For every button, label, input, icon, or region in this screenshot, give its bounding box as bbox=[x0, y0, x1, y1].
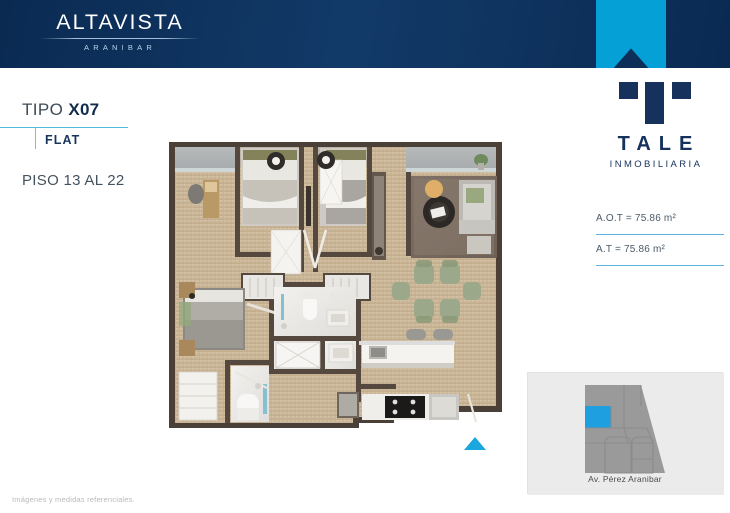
unit-type-heading: TIPO X07 bbox=[22, 100, 99, 120]
header-band: ALTAVISTA ARANIBAR bbox=[0, 0, 730, 68]
fp-laundry-closet bbox=[179, 372, 217, 420]
unit-layout-label: FLAT bbox=[45, 133, 80, 147]
keyplan-street-label: Av. Pérez Aranibar bbox=[528, 474, 722, 484]
brand-divider bbox=[40, 38, 200, 39]
disclaimer-text: Imágenes y medidas referenciales. bbox=[12, 495, 135, 504]
tale-block-right bbox=[672, 82, 691, 99]
fp-bathroom-secondary bbox=[231, 366, 269, 422]
company-logo: TALE INMOBILIARIA bbox=[580, 82, 730, 170]
brand-subtitle: ARANIBAR bbox=[40, 43, 200, 52]
unit-type-code: X07 bbox=[68, 100, 99, 119]
area-divider-bottom bbox=[596, 265, 724, 266]
floorplan-render bbox=[163, 136, 508, 441]
area-aot: A.O.T = 75.86 m² bbox=[596, 213, 724, 234]
accent-tick bbox=[35, 128, 36, 149]
fp-bathroom-main bbox=[274, 287, 356, 369]
orientation-arrow-icon bbox=[464, 437, 486, 450]
ribbon-banner-icon bbox=[596, 0, 666, 68]
fp-hall-wall-seg bbox=[306, 186, 311, 226]
floorplan-sheet: ALTAVISTA ARANIBAR TIPO X07 FLAT PISO 13… bbox=[0, 0, 730, 513]
brand-logo: ALTAVISTA ARANIBAR bbox=[40, 9, 200, 52]
tale-stem bbox=[645, 82, 664, 124]
unit-floors-label: PISO 13 AL 22 bbox=[22, 172, 125, 189]
keyplan-map: Av. Pérez Aranibar bbox=[527, 372, 723, 494]
area-at: A.T = 75.86 m² bbox=[596, 235, 724, 255]
company-name: TALE bbox=[580, 133, 730, 156]
floorplan-svg bbox=[163, 136, 508, 441]
accent-divider bbox=[0, 127, 128, 128]
company-tagline: INMOBILIARIA bbox=[580, 159, 730, 170]
tale-t-mark-icon bbox=[619, 82, 691, 124]
area-summary: A.O.T = 75.86 m² A.T = 75.86 m² bbox=[596, 213, 724, 266]
tale-block-left bbox=[619, 82, 638, 99]
unit-type-prefix: TIPO bbox=[22, 100, 68, 119]
brand-name: ALTAVISTA bbox=[40, 9, 200, 35]
keyplan-highlight-unit bbox=[585, 406, 611, 428]
